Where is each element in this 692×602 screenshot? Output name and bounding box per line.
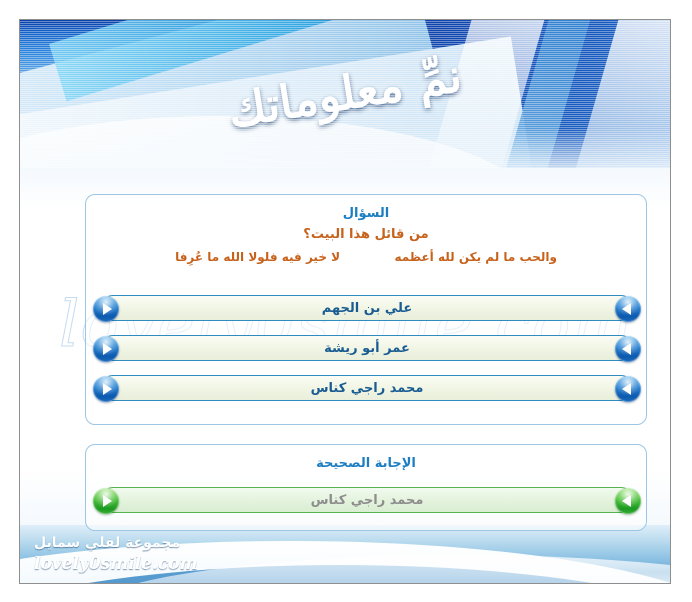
footer-banner: مجموعة لفلي سمايل lovely0smile.com bbox=[20, 525, 670, 583]
question-heading: السؤال bbox=[86, 206, 646, 221]
play-right-icon[interactable] bbox=[93, 488, 119, 514]
answer-option-1-label: علي بن الجهم bbox=[101, 296, 633, 320]
answer-option-1[interactable]: علي بن الجهم bbox=[100, 295, 634, 321]
header-banner: نمِّ معلوماتك bbox=[20, 20, 670, 168]
answer-option-3-label: محمد راجي كناس bbox=[101, 376, 633, 400]
correct-answer-bar[interactable]: محمد راجي كناس bbox=[100, 487, 634, 513]
play-right-icon[interactable] bbox=[93, 296, 119, 322]
answer-option-2[interactable]: عمر أبو ريشة bbox=[100, 335, 634, 361]
verse-first-hemistich: والحب ما لم يكن لله أعظمه bbox=[394, 250, 556, 264]
correct-answer-heading: الإجابة الصحيحة bbox=[86, 456, 646, 471]
footer-url-label: lovely0smile.com bbox=[34, 554, 198, 574]
play-left-icon[interactable] bbox=[615, 336, 641, 362]
verse-second-hemistich: لا خير فيه فلولا الله ما عُرِفا bbox=[175, 250, 340, 264]
question-panel: السؤال من قائل هذا البيت؟ والحب ما لم يك… bbox=[85, 194, 647, 425]
play-left-icon[interactable] bbox=[615, 296, 641, 322]
play-left-icon[interactable] bbox=[615, 488, 641, 514]
site-logo: نمِّ معلوماتك bbox=[20, 66, 670, 120]
question-verse: والحب ما لم يكن لله أعظمه لا خير فيه فلو… bbox=[86, 250, 646, 264]
play-right-icon[interactable] bbox=[93, 376, 119, 402]
play-right-icon[interactable] bbox=[93, 336, 119, 362]
question-prompt: من قائل هذا البيت؟ bbox=[86, 227, 646, 242]
correct-answer-panel: الإجابة الصحيحة محمد راجي كناس bbox=[85, 444, 647, 531]
page-frame: نمِّ معلوماتك lovely0smile.com السؤال من… bbox=[19, 19, 671, 584]
answer-option-2-label: عمر أبو ريشة bbox=[101, 336, 633, 360]
correct-answer-label: محمد راجي كناس bbox=[101, 488, 633, 512]
app-root: نمِّ معلوماتك lovely0smile.com السؤال من… bbox=[0, 0, 692, 602]
play-left-icon[interactable] bbox=[615, 376, 641, 402]
answer-option-3[interactable]: محمد راجي كناس bbox=[100, 375, 634, 401]
footer-arabic-label: مجموعة لفلي سمايل bbox=[34, 535, 180, 551]
